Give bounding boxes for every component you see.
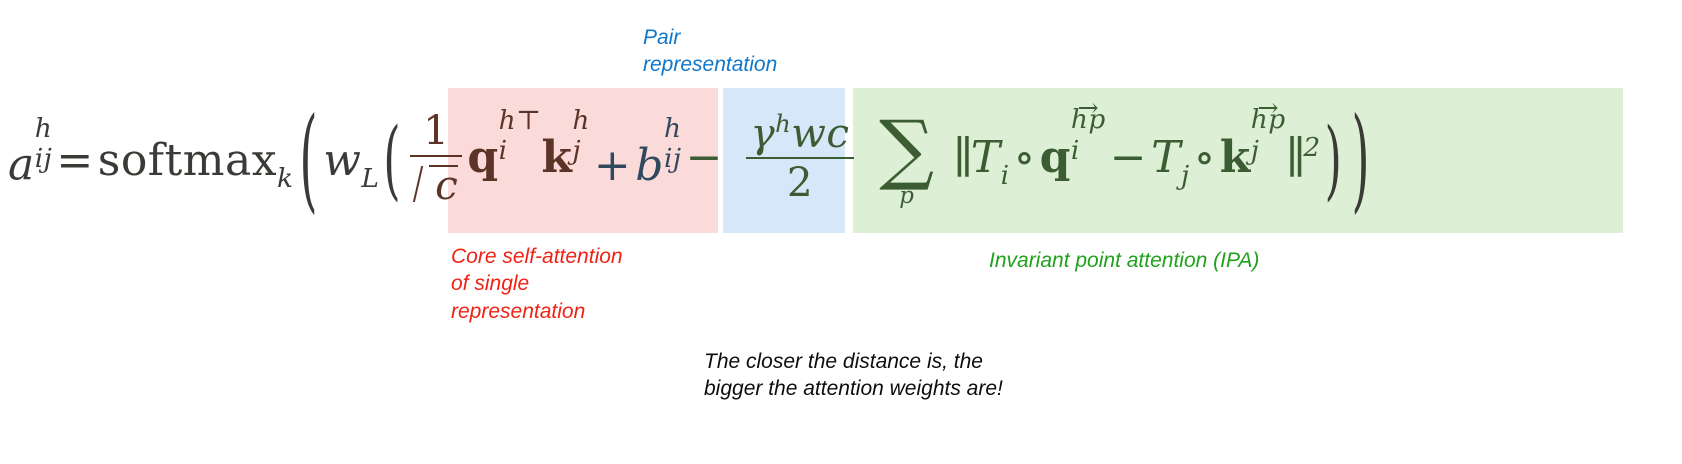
- coefficient-denominator: 2: [783, 161, 817, 205]
- key-scripts: hj: [572, 120, 590, 175]
- summation-index: p: [899, 185, 914, 208]
- query-vector-core: qh⊤i: [467, 132, 541, 183]
- query-point-vector: q→hpi: [1040, 132, 1106, 183]
- softmax-name: softmax: [98, 135, 277, 186]
- annotation-invariant-point-attention: Invariant point attention (IPA): [989, 247, 1259, 274]
- vector-arrow-group-2: →hp: [1251, 97, 1286, 133]
- query-point-superscript: →hp: [1071, 98, 1106, 134]
- gamma-coefficient-fraction: γhwc 2: [746, 112, 853, 205]
- key-vector-core: khj: [541, 132, 590, 183]
- gamma-superscript: h: [775, 109, 791, 138]
- softmax-subscript: k: [277, 163, 294, 194]
- lhs-scripts: hij: [35, 128, 53, 183]
- norm-power: 2: [1303, 132, 1320, 163]
- invariant-point-attention-term: − γhwc 2 ∑ p ∥Ti∘q→hpi−Tj∘k→hpj∥2: [682, 114, 1321, 208]
- inner-open-paren: (: [383, 111, 401, 210]
- transform-i: Ti: [971, 132, 1010, 183]
- norm-close-bars: ∥: [1286, 132, 1304, 183]
- figure-caption: The closer the distance is, the bigger t…: [704, 348, 1003, 403]
- compose-icon: ∘: [1010, 132, 1040, 183]
- sqrt-icon: c: [414, 159, 458, 208]
- outer-open-paren: (: [299, 95, 318, 225]
- lhs-term: ahij: [8, 130, 52, 191]
- summation-operator: ∑ p: [879, 117, 934, 207]
- pair-bias-base: b: [635, 140, 664, 191]
- core-self-attention-term: 1 c qh⊤ikhj: [405, 111, 590, 209]
- outer-close-paren: ): [1352, 95, 1371, 225]
- inner-minus-sign: −: [1106, 132, 1151, 183]
- fraction-numerator: 1: [419, 109, 453, 153]
- weight-term: wL: [323, 135, 379, 186]
- transform-j: Tj: [1151, 132, 1190, 183]
- inner-close-paren: ): [1325, 111, 1343, 210]
- gamma-symbol: γ: [750, 109, 775, 157]
- annotation-pair-representation: Pair representation: [643, 24, 777, 79]
- coefficient-numerator: γhwc: [746, 112, 853, 156]
- equals-sign: =: [52, 135, 97, 186]
- coefficient-wc: wc: [791, 109, 849, 157]
- fraction-denominator: c: [410, 159, 462, 208]
- key-base: k: [541, 132, 572, 183]
- vector-arrow-icon-2: →: [1251, 104, 1286, 113]
- key-point-superscript: →hp: [1251, 98, 1286, 134]
- vector-arrow-icon: →: [1071, 104, 1106, 113]
- transpose-icon: ⊤: [516, 105, 541, 136]
- query-base: q: [467, 132, 498, 183]
- pair-bias-scripts: hij: [664, 128, 682, 183]
- pair-bias: bhij: [635, 140, 681, 191]
- annotation-core-self-attention: Core self-attention of single representa…: [451, 243, 623, 325]
- inverse-sqrt-c-fraction: 1 c: [410, 109, 462, 207]
- key-point-vector: k→hpj: [1220, 132, 1286, 183]
- query-point-scripts: →hpi: [1071, 111, 1106, 175]
- weight-subscript: L: [361, 163, 379, 194]
- minus-sign: −: [682, 132, 727, 183]
- fraction-bar: [410, 155, 462, 157]
- sqrt-radicand: c: [435, 159, 458, 208]
- vector-arrow-group: →hp: [1071, 97, 1106, 133]
- query-scripts: h⊤i: [499, 120, 542, 175]
- norm-open-bars: ∥: [953, 132, 971, 183]
- equation-figure: ahij = softmaxk ( wL ( 1 c qh⊤ikhj +bhij…: [0, 0, 1682, 464]
- sigma-icon: ∑: [879, 117, 934, 183]
- equation-expression: ahij = softmaxk ( wL ( 1 c qh⊤ikhj +bhij…: [8, 88, 1376, 233]
- plus-sign: +: [590, 140, 635, 191]
- key-point-scripts: →hpj: [1251, 111, 1286, 175]
- softmax-operator: softmaxk: [98, 135, 294, 186]
- lhs-base: a: [8, 140, 35, 191]
- query-subscript: i: [499, 137, 542, 165]
- query-superscript: h⊤: [499, 107, 542, 135]
- pair-representation-term: +bhij: [590, 130, 682, 191]
- compose-icon-2: ∘: [1190, 132, 1220, 183]
- weight-base: w: [323, 135, 361, 186]
